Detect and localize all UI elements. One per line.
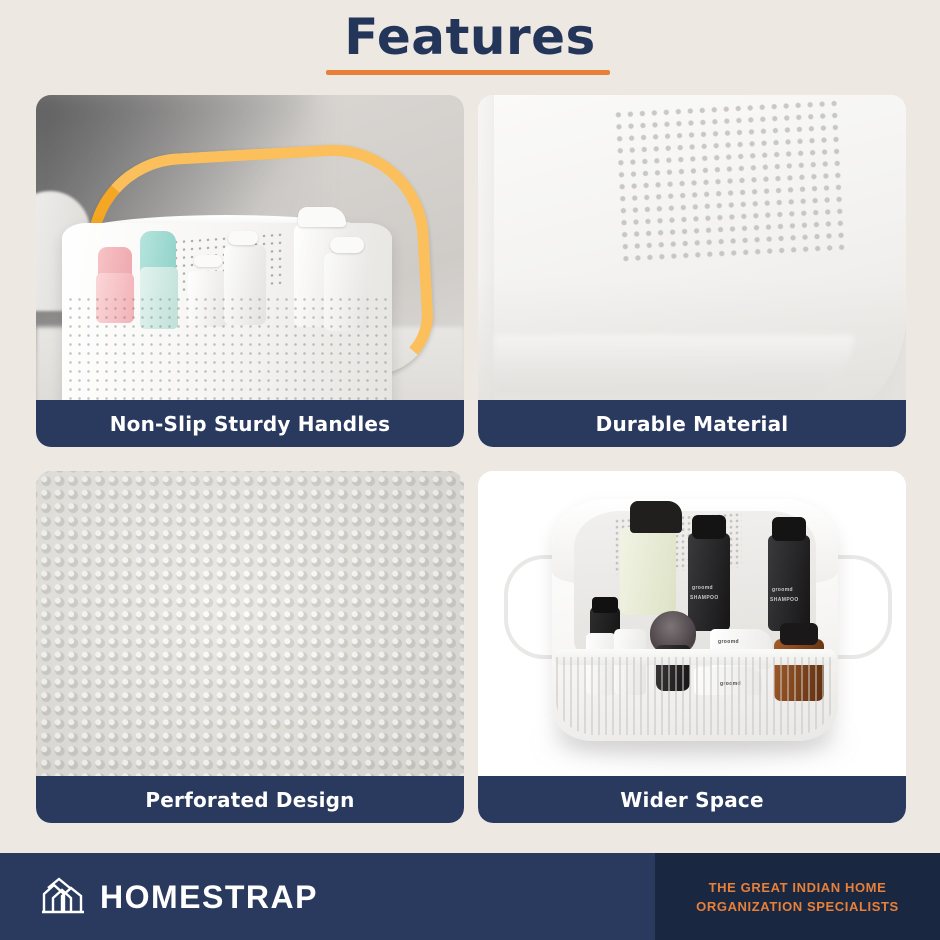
feature-caption: Non-Slip Sturdy Handles (36, 400, 464, 447)
feature-card-durable-material[interactable]: Durable Material (478, 95, 906, 447)
product-brand-label: groomd (692, 585, 713, 591)
feature-caption: Durable Material (478, 400, 906, 447)
feature-photo-handles (36, 95, 464, 447)
title-underline (326, 70, 610, 75)
product-type-label: SHAMPOO (770, 597, 799, 603)
pump-head-2 (228, 231, 258, 245)
right-side-handle (830, 555, 892, 659)
lotion-bottle (620, 527, 676, 615)
feature-card-wider-space[interactable]: groomd SHAMPOO groomd SHAMPOO groomd S (478, 471, 906, 823)
texture-vignette (36, 471, 464, 823)
feature-card-perforated-design[interactable]: Perforated Design (36, 471, 464, 823)
product-brand-label: groomd (718, 639, 739, 645)
pump-head-3 (298, 207, 346, 227)
tagline-line-2: ORGANIZATION SPECIALISTS (696, 899, 899, 914)
tagline-line-1: THE GREAT INDIAN HOME (709, 880, 887, 895)
product-brand-label: groomd (772, 587, 793, 593)
product-type-label: SHAMPOO (690, 595, 719, 601)
brand-name: HOMESTRAP (100, 879, 318, 916)
feature-page: Features (0, 0, 940, 940)
footer-tagline: THE GREAT INDIAN HOME ORGANIZATION SPECI… (655, 853, 940, 940)
page-title: Features (0, 8, 940, 66)
feature-card-non-slip-sturdy-handles[interactable]: Non-Slip Sturdy Handles (36, 95, 464, 447)
molded-dot-patch (612, 97, 850, 265)
small-dark-cap (592, 597, 618, 613)
feature-caption: Perforated Design (36, 776, 464, 823)
page-footer: HOMESTRAP THE GREAT INDIAN HOME ORGANIZA… (0, 853, 940, 940)
feature-grid: Non-Slip Sturdy Handles Durable Material… (36, 95, 906, 831)
shampoo-bottle-1: groomd SHAMPOO (688, 533, 730, 631)
lotion-pump-head (630, 501, 682, 533)
feature-photo-durable (478, 95, 906, 447)
feature-photo-perforated (36, 471, 464, 823)
shampoo-bottle-2: groomd SHAMPOO (768, 535, 810, 631)
feature-photo-wider-space: groomd SHAMPOO groomd SHAMPOO groomd S (478, 471, 906, 823)
shampoo-cap-1 (692, 515, 726, 539)
amber-pump-head (780, 623, 818, 645)
brand-lockup[interactable]: HOMESTRAP (40, 873, 318, 921)
lower-shade (478, 277, 906, 407)
pump-head-4 (330, 237, 364, 253)
basket-rib-texture (556, 657, 834, 735)
feature-caption: Wider Space (478, 776, 906, 823)
page-header: Features (0, 0, 940, 92)
shampoo-cap-2 (772, 517, 806, 541)
home-monogram-icon (40, 874, 86, 921)
pump-head-1 (194, 255, 222, 267)
